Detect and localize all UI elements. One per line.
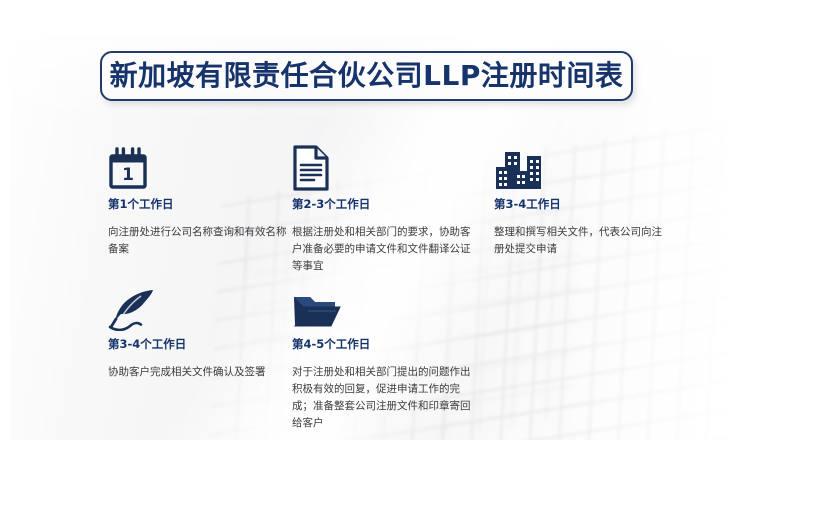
step-body: 对于注册处和相关部门提出的问题作出积极有效的回复，促进申请工作的完成；准备整套公… (292, 364, 478, 432)
step-card-4[interactable]: 第3-4个工作日 协助客户完成相关文件确认及签署 (108, 285, 294, 381)
step-body: 根据注册处和相关部门的要求，协助客户准备必要的申请文件和文件翻译公证等事宜 (292, 224, 478, 275)
step-card-2[interactable]: 第2-3个工作日 根据注册处和相关部门的要求，协助客户准备必要的申请文件和文件翻… (292, 145, 478, 275)
step-card-1[interactable]: 1 第1个工作日 向注册处进行公司名称查询和有效名称备案 (108, 145, 294, 258)
step-title: 第1个工作日 (108, 197, 294, 212)
svg-text:1: 1 (122, 165, 134, 185)
buildings-icon (494, 145, 669, 191)
step-card-3[interactable]: 第3-4工作日 整理和撰写相关文件，代表公司向注册处提交申请 (494, 145, 669, 258)
step-body: 协助客户完成相关文件确认及签署 (108, 364, 294, 381)
step-title: 第4-5个工作日 (292, 337, 478, 352)
open-folder-icon (292, 285, 478, 331)
page-title: 新加坡有限责任合伙公司LLP注册时间表 (110, 62, 624, 90)
step-title: 第3-4个工作日 (108, 337, 294, 352)
slide-canvas: 新加坡有限责任合伙公司LLP注册时间表 1 第1个工作日 向注册处进行公司名称查… (0, 0, 817, 522)
step-title: 第2-3个工作日 (292, 197, 478, 212)
calendar-icon: 1 (108, 145, 294, 191)
step-body: 整理和撰写相关文件，代表公司向注册处提交申请 (494, 224, 669, 258)
step-card-5[interactable]: 第4-5个工作日 对于注册处和相关部门提出的问题作出积极有效的回复，促进申请工作… (292, 285, 478, 432)
step-title: 第3-4工作日 (494, 197, 669, 212)
step-body: 向注册处进行公司名称查询和有效名称备案 (108, 224, 294, 258)
quill-pen-icon (108, 285, 294, 331)
document-icon (292, 145, 478, 191)
page-title-box: 新加坡有限责任合伙公司LLP注册时间表 (100, 51, 633, 101)
